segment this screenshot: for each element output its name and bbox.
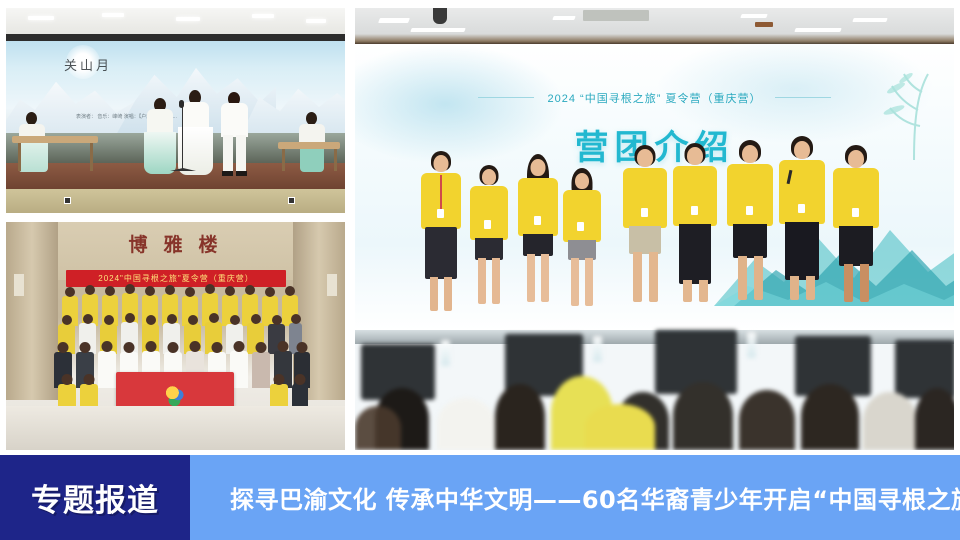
wall-lamp-right	[327, 274, 337, 296]
guzheng-right	[278, 142, 340, 149]
audience-foreground	[355, 300, 954, 450]
guzheng-leg	[18, 143, 21, 171]
topic-badge-label: 专题报道	[31, 475, 159, 520]
wall-lamp-left	[14, 274, 24, 296]
student-on-stage	[727, 164, 773, 314]
photo-collage: 关山月 表演者： 音乐：峰崎 演唱：【户部达】玲和 ...	[0, 0, 960, 455]
student-on-stage	[563, 190, 601, 314]
photo-stage-performance[interactable]: 关山月 表演者： 音乐：峰崎 演唱：【户部达】玲和 ...	[6, 8, 345, 213]
student-on-stage	[518, 178, 558, 314]
lobby-floor	[6, 406, 345, 450]
topic-badge[interactable]: 专题报道	[0, 455, 190, 540]
header-rule-right	[775, 97, 831, 98]
student-on-stage	[833, 168, 879, 314]
guzheng-left	[12, 136, 98, 143]
header-rule-left	[478, 97, 534, 98]
bottom-banner: 专题报道 探寻巴渝文化 传承中华文明——60名华裔青少年开启“中国寻根之旅”	[0, 455, 960, 540]
lobby-pillar-left	[6, 222, 58, 400]
ceiling-shadow-band	[6, 34, 345, 41]
guzheng-leg	[90, 143, 93, 171]
student-on-stage	[673, 166, 717, 314]
microphone-icon	[179, 100, 184, 108]
backdrop-title-text: 关山月	[64, 55, 112, 74]
screen-header-text: 2024 “中国寻根之旅” 夏令营（重庆营）	[355, 90, 954, 106]
photo-group-photo[interactable]: 博雅楼 2024"中国寻根之旅"夏令营（重庆营）	[6, 222, 345, 450]
flag-emblem-icon	[162, 385, 188, 407]
stage-apron	[6, 189, 345, 213]
student-on-stage	[421, 173, 461, 313]
ceiling	[6, 8, 345, 34]
student-speaker-with-mic	[779, 160, 825, 314]
building-name-sign: 博雅楼	[116, 230, 246, 260]
student-on-stage	[623, 168, 667, 314]
news-photo-page: 关山月 表演者： 音乐：峰崎 演唱：【户部达】玲和 ...	[0, 0, 960, 540]
headline-container: 探寻巴渝文化 传承中华文明——60名华裔青少年开启“中国寻根之旅”	[190, 455, 960, 540]
guzheng-leg	[334, 149, 337, 171]
guzheng-leg	[282, 149, 285, 171]
photo-hall-presentation[interactable]: 2024 “中国寻根之旅” 夏令营（重庆营） 营团介绍	[355, 8, 954, 450]
screen-header-label: 2024 “中国寻根之旅” 夏令营（重庆营）	[548, 93, 762, 105]
microphone-stand	[182, 104, 183, 170]
headline-text: 探寻巴渝文化 传承中华文明——60名华裔青少年开启“中国寻根之旅”	[190, 480, 960, 515]
student-on-stage	[470, 186, 508, 314]
